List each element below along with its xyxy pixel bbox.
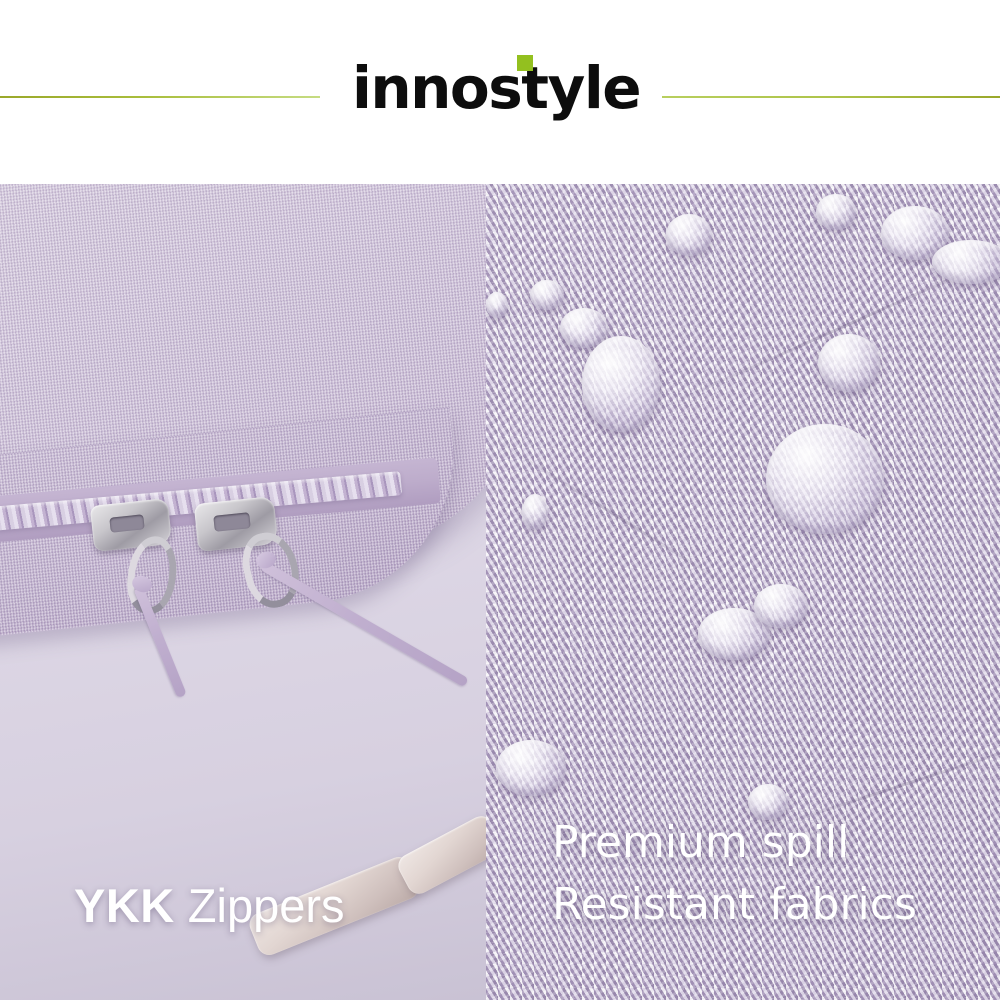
product-feature-banner: innostyle (0, 0, 1000, 1000)
water-droplet (486, 292, 508, 318)
water-droplet (754, 584, 808, 628)
water-droplet (816, 194, 856, 230)
water-droplet (496, 740, 566, 796)
water-droplet (522, 494, 548, 530)
water-droplet (582, 336, 660, 432)
brand-logo: innostyle (336, 52, 656, 128)
water-droplet (766, 424, 884, 534)
water-droplet (932, 240, 1000, 284)
brand-header: innostyle (0, 0, 1000, 184)
brand-logo-text: innostyle (336, 52, 656, 124)
caption-ykk-strong: YKK (74, 879, 175, 932)
water-droplet (666, 214, 712, 256)
caption-ykk-light: Zippers (188, 879, 345, 932)
header-rule-left (0, 96, 320, 98)
caption-ykk-zippers: YKK Zippers (74, 878, 474, 934)
logo-dot-icon (517, 55, 533, 71)
caption-spill-line-1: Premium spill (552, 812, 992, 874)
caption-spill-resistant: Premium spill Resistant fabrics (552, 812, 992, 936)
water-droplet (530, 280, 564, 310)
header-rule-right (662, 96, 1000, 98)
caption-spill-line-2: Resistant fabrics (552, 874, 992, 936)
water-droplet (818, 334, 880, 392)
